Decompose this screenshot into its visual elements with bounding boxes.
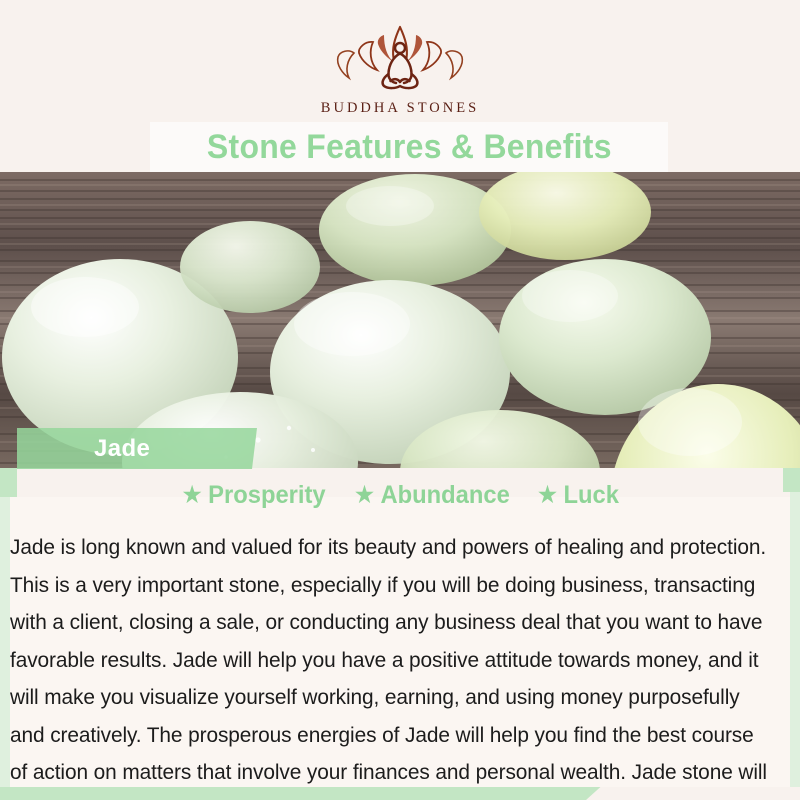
brand-name: BUDDHA STONES — [321, 100, 479, 117]
decorative-right-panel-edge — [790, 492, 800, 787]
stone-name-badge: Jade — [17, 428, 257, 469]
lotus-meditation-icon — [325, 22, 475, 94]
benefits-list: ★ Prosperity ★ Abundance ★ Luck — [0, 479, 800, 511]
stone-description: Jade is long known and valued for its be… — [10, 529, 771, 800]
star-icon: ★ — [183, 484, 202, 506]
decorative-left-panel-edge — [0, 497, 10, 787]
page-title: Stone Features & Benefits — [207, 128, 612, 167]
benefit-label: Prosperity — [208, 481, 325, 510]
benefit-item-abundance: ★ Abundance — [355, 481, 510, 510]
benefit-label: Luck — [564, 481, 619, 510]
stone-benefits-infographic: BUDDHA STONES Stone Features & Benefits — [0, 0, 800, 800]
benefit-item-prosperity: ★ Prosperity — [183, 481, 326, 510]
star-icon: ★ — [355, 484, 374, 506]
benefit-label: Abundance — [381, 481, 510, 510]
star-icon: ★ — [538, 484, 557, 506]
benefit-item-luck: ★ Luck — [538, 481, 619, 510]
stone-name: Jade — [94, 435, 150, 463]
brand-logo: BUDDHA STONES — [0, 22, 800, 117]
title-banner: Stone Features & Benefits — [150, 122, 668, 172]
stone-photo — [0, 172, 800, 468]
